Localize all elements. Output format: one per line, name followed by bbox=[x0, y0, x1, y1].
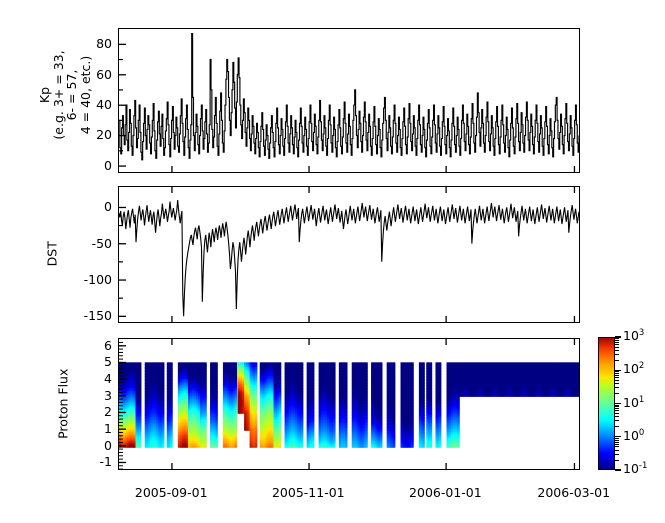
colorbar-minor-tick bbox=[615, 416, 619, 417]
proton-flux-column bbox=[200, 362, 207, 447]
proton-flux-ytick-6: 6 bbox=[76, 338, 112, 353]
colorbar-minor-tick bbox=[615, 438, 619, 439]
colorbar-tick-102: 102 bbox=[623, 361, 644, 376]
proton-flux-column bbox=[188, 362, 200, 447]
colorbar-tick-exponent: -1 bbox=[639, 461, 647, 471]
dst-ytick--150: -150 bbox=[70, 308, 112, 323]
kp-series-line bbox=[119, 34, 579, 160]
dst-series-line bbox=[119, 200, 579, 316]
colorbar-minor-tick bbox=[615, 450, 619, 451]
dst-ytick--50: -50 bbox=[70, 236, 112, 251]
colorbar-minor-tick bbox=[615, 360, 619, 361]
colorbar-tick-exponent: 2 bbox=[639, 361, 644, 371]
colorbar-minor-tick bbox=[615, 405, 619, 406]
kp-axis-label-line-0: Kp bbox=[38, 20, 52, 170]
proton-flux-ytick-4: 4 bbox=[76, 371, 112, 386]
proton-flux-ytick-3: 3 bbox=[76, 388, 112, 403]
colorbar-minor-tick bbox=[615, 342, 619, 343]
proton-flux-column bbox=[435, 362, 441, 447]
proton-flux-column bbox=[307, 362, 315, 447]
colorbar-minor-tick bbox=[615, 413, 619, 414]
colorbar-minor-tick bbox=[615, 347, 619, 348]
proton-flux-column bbox=[274, 362, 282, 447]
proton-flux-column bbox=[352, 362, 368, 447]
proton-flux-column bbox=[119, 362, 136, 447]
colorbar-tick-exponent: 0 bbox=[639, 428, 644, 438]
proton-flux-ytick-1: 1 bbox=[76, 421, 112, 436]
proton-flux-axis-label: Proton Flux bbox=[56, 349, 70, 459]
colorbar-minor-tick bbox=[615, 420, 619, 421]
colorbar-minor-tick bbox=[615, 444, 619, 445]
proton-flux-column bbox=[136, 362, 142, 447]
colorbar-minor-tick bbox=[615, 406, 619, 407]
dst-axis-label: DST bbox=[45, 224, 59, 284]
proton-flux-ytick-5: 5 bbox=[76, 354, 112, 369]
colorbar-minor-tick bbox=[615, 371, 619, 372]
colorbar-tick-101: 101 bbox=[623, 395, 644, 410]
x-axis-tick-2005-09-01: 2005-09-01 bbox=[135, 485, 208, 500]
colorbar-tick-exponent: 1 bbox=[639, 395, 644, 405]
colorbar-minor-tick bbox=[615, 426, 619, 427]
x-axis-tick-2006-03-01: 2006-03-01 bbox=[537, 485, 610, 500]
colorbar-minor-tick bbox=[615, 338, 619, 339]
dst-ytick--100: -100 bbox=[70, 272, 112, 287]
kp-axis-label-line-1: (e.g. 3+ = 33, bbox=[52, 20, 66, 170]
proton-flux-column bbox=[371, 362, 382, 447]
proton-flux-column bbox=[387, 362, 396, 447]
colorbar-minor-tick bbox=[615, 387, 619, 388]
colorbar-tick-103: 103 bbox=[623, 328, 644, 343]
kp-ytick-80: 80 bbox=[82, 36, 112, 51]
kp-axis-label-line-2: 6- = 57, bbox=[65, 20, 79, 170]
colorbar-minor-tick bbox=[615, 408, 619, 409]
colorbar-minor-tick bbox=[615, 377, 619, 378]
proton-flux-column bbox=[426, 362, 432, 447]
proton-flux-column bbox=[178, 362, 188, 447]
kp-ytick-20: 20 bbox=[82, 127, 112, 142]
dst-ytick-0: 0 bbox=[70, 199, 112, 214]
proton-flux-ytick--1: -1 bbox=[76, 454, 112, 469]
colorbar-minor-tick bbox=[615, 380, 619, 381]
proton-flux-column bbox=[419, 362, 425, 447]
proton-flux-column bbox=[250, 362, 258, 447]
colorbar-minor-tick bbox=[615, 344, 619, 345]
proton-flux-column bbox=[459, 362, 579, 397]
colorbar-minor-tick bbox=[615, 454, 619, 455]
proton-flux-column bbox=[238, 362, 245, 414]
colorbar-tick-100: 100 bbox=[623, 428, 644, 443]
figure-canvas: Kp(e.g. 3+ = 33,6- = 57,4 = 40, etc.) 02… bbox=[0, 0, 665, 523]
proton-flux-ytick-2: 2 bbox=[76, 404, 112, 419]
proton-flux-column bbox=[285, 362, 304, 447]
colorbar-minor-tick bbox=[615, 375, 619, 376]
x-axis-tick-2006-01-01: 2006-01-01 bbox=[409, 485, 482, 500]
colorbar-minor-tick bbox=[615, 393, 619, 394]
colorbar-minor-tick bbox=[615, 442, 619, 443]
colorbar-minor-tick bbox=[615, 410, 619, 411]
proton-flux-column bbox=[145, 362, 165, 447]
kp-ytick-0: 0 bbox=[82, 158, 112, 173]
colorbar-tick-mark bbox=[615, 469, 621, 470]
proton-flux-column bbox=[210, 362, 218, 447]
proton-flux-column bbox=[244, 362, 250, 430]
proton-flux-column bbox=[223, 362, 237, 447]
colorbar-minor-tick bbox=[615, 340, 619, 341]
proton-flux-column bbox=[339, 362, 348, 447]
colorbar-tick-exponent: 3 bbox=[639, 328, 644, 338]
x-axis-tick-2005-11-01: 2005-11-01 bbox=[272, 485, 345, 500]
kp-index-plot-area bbox=[119, 29, 579, 172]
proton-flux-column bbox=[447, 362, 460, 447]
proton-flux-ytick-0: 0 bbox=[76, 438, 112, 453]
colorbar-minor-tick bbox=[615, 446, 619, 447]
colorbar-minor-tick bbox=[615, 373, 619, 374]
colorbar-tick-10-1: 10-1 bbox=[623, 461, 647, 476]
dst-index-plot-area bbox=[119, 187, 579, 322]
colorbar-gradient bbox=[598, 337, 615, 470]
colorbar-minor-tick bbox=[615, 440, 619, 441]
proton-flux-column bbox=[167, 362, 173, 447]
proton-flux-heatmap bbox=[119, 339, 579, 469]
kp-ytick-40: 40 bbox=[82, 97, 112, 112]
colorbar-minor-tick bbox=[615, 460, 619, 461]
proton-flux-column bbox=[260, 362, 274, 447]
colorbar-minor-tick bbox=[615, 354, 619, 355]
proton-flux-column bbox=[319, 362, 336, 447]
kp-ytick-60: 60 bbox=[82, 67, 112, 82]
colorbar-minor-tick bbox=[615, 383, 619, 384]
colorbar-minor-tick bbox=[615, 350, 619, 351]
proton-flux-column bbox=[401, 362, 414, 447]
